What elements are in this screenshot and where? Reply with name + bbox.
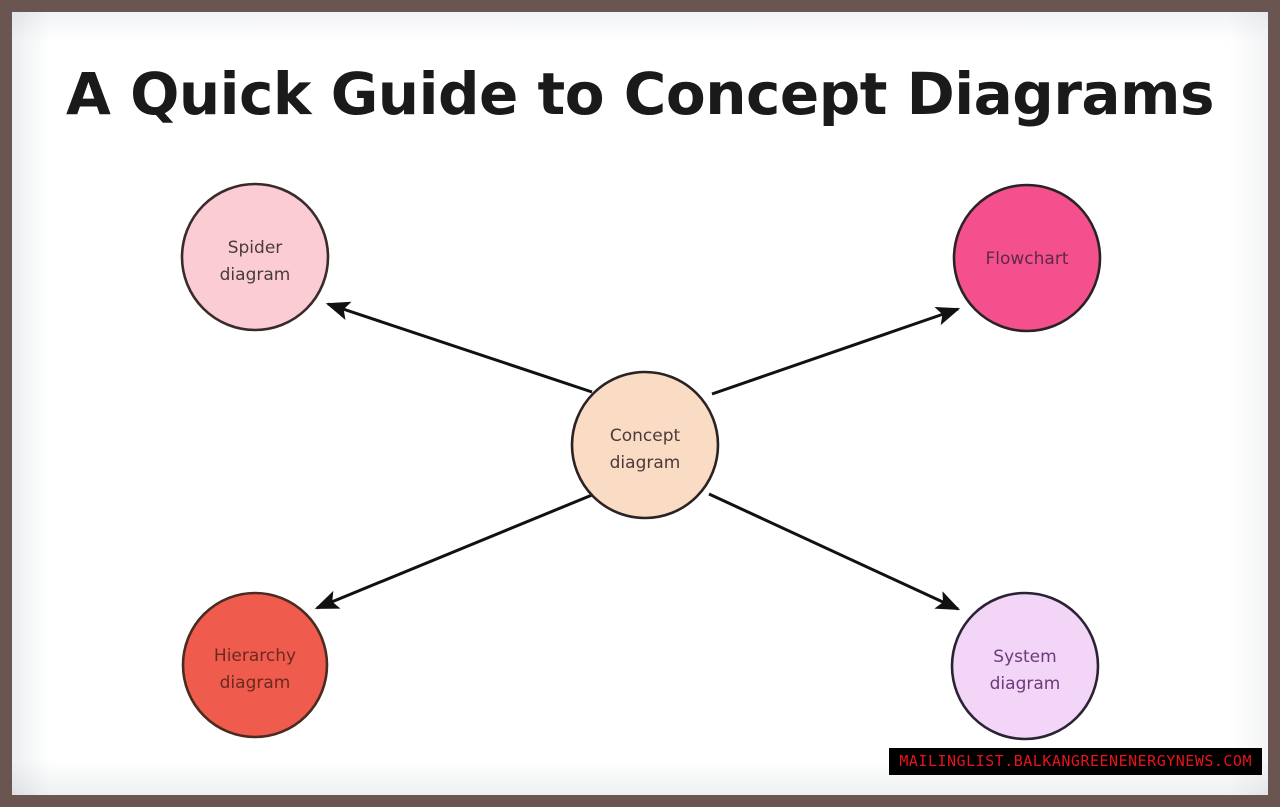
- edge-concept-to-flowchart: [712, 309, 958, 394]
- node-system-diagram-label-line2: diagram: [990, 674, 1061, 694]
- diagram-canvas: A Quick Guide to Concept Diagrams Spider…: [12, 12, 1268, 795]
- edge-concept-to-hierarchy: [317, 495, 592, 608]
- node-spider-diagram-label-line2: diagram: [220, 265, 291, 285]
- node-system-diagram-label-line1: System: [993, 647, 1056, 667]
- edge-concept-to-spider: [328, 304, 592, 392]
- node-concept-diagram-label-line1: Concept: [610, 426, 681, 446]
- node-spider-diagram[interactable]: Spider diagram: [182, 184, 328, 330]
- watermark-banner: MAILINGLIST.BALKANGREENENERGYNEWS.COM: [889, 748, 1262, 775]
- node-concept-diagram-label-line2: diagram: [610, 453, 681, 473]
- node-system-diagram[interactable]: System diagram: [952, 593, 1098, 739]
- node-flowchart[interactable]: Flowchart: [954, 185, 1100, 331]
- node-hierarchy-diagram-label-line2: diagram: [220, 673, 291, 693]
- node-concept-diagram[interactable]: Concept diagram: [572, 372, 718, 518]
- node-spider-diagram-label-line1: Spider: [228, 238, 283, 258]
- node-flowchart-label-line1: Flowchart: [986, 249, 1069, 269]
- node-hierarchy-diagram-label-line1: Hierarchy: [214, 646, 296, 666]
- node-hierarchy-diagram[interactable]: Hierarchy diagram: [183, 593, 327, 737]
- edge-concept-to-system: [709, 494, 958, 609]
- image-frame: A Quick Guide to Concept Diagrams Spider…: [0, 0, 1280, 807]
- concept-diagram-graphic: Spider diagram Flowchart Concept diagram…: [12, 12, 1268, 795]
